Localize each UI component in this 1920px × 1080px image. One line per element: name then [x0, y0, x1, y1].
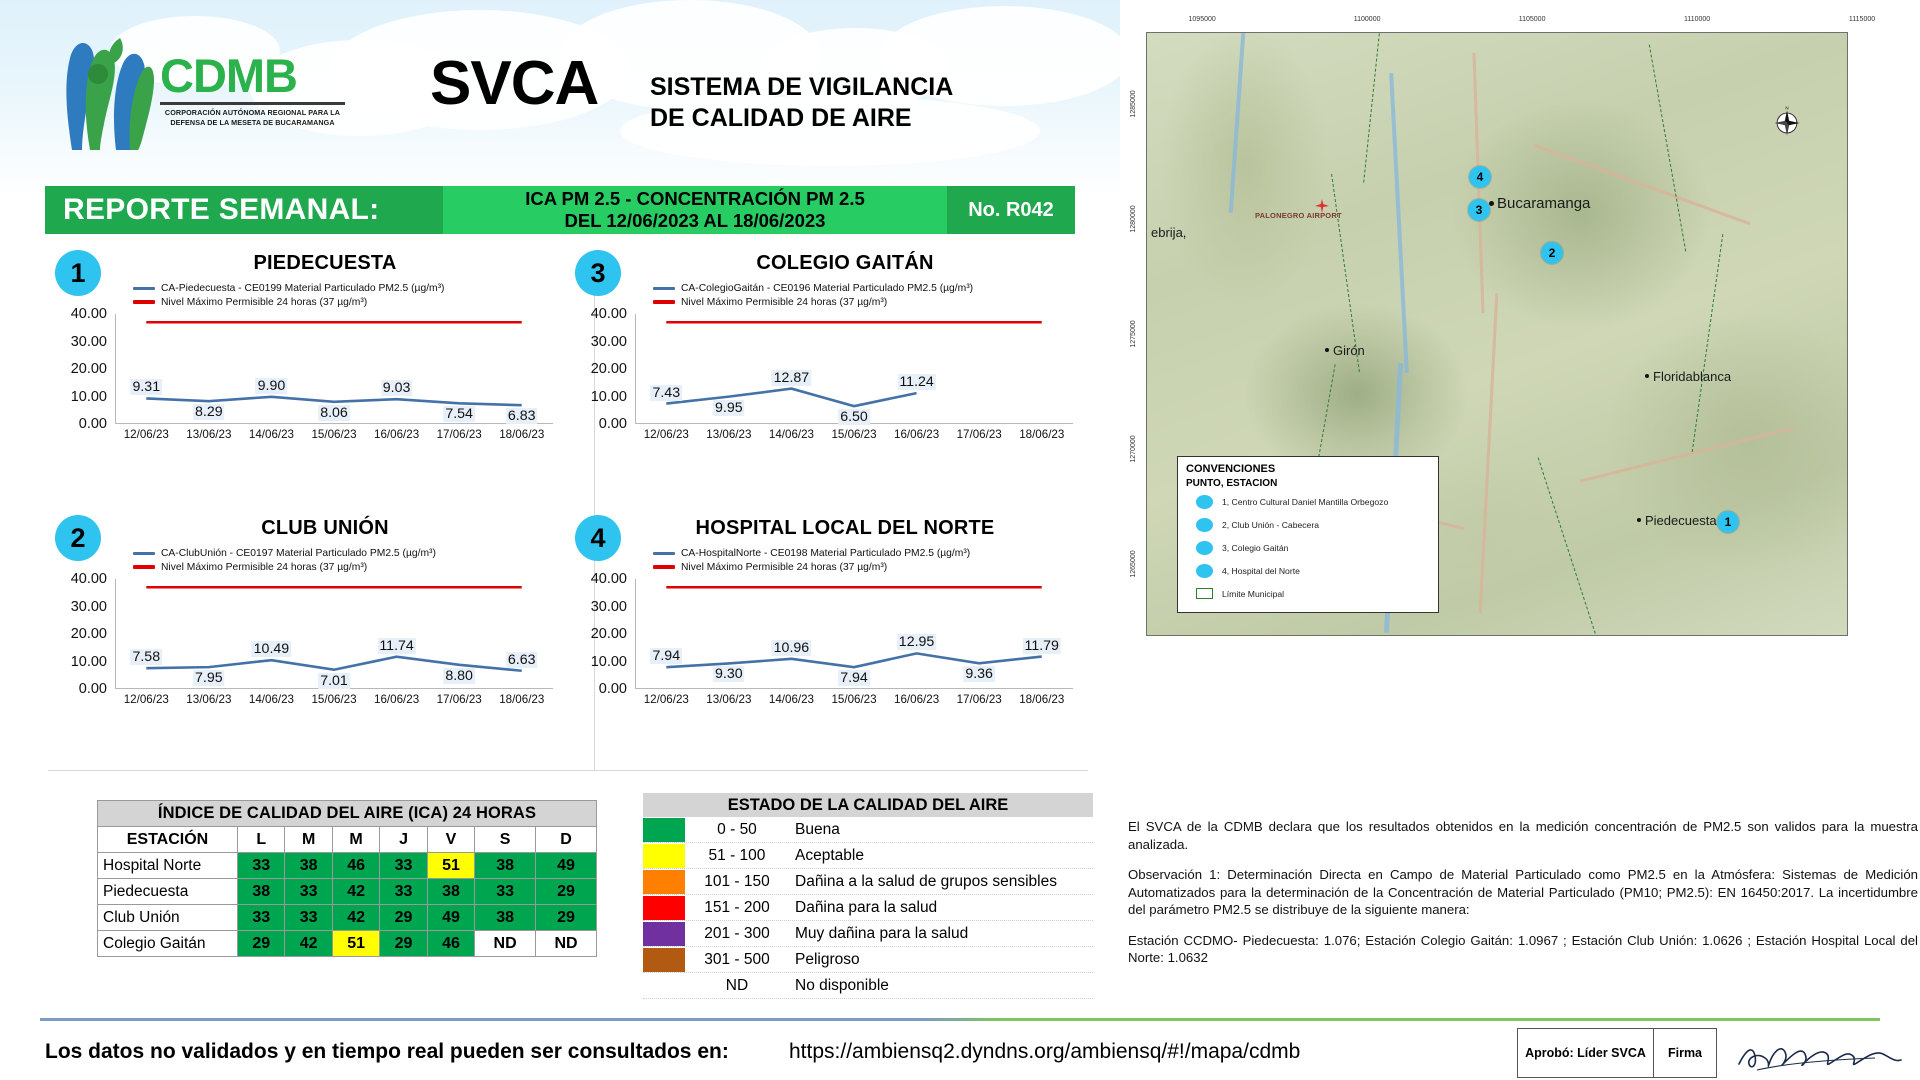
estado-description: No disponible: [785, 977, 889, 995]
ica-value-cell: 33: [285, 879, 332, 905]
footer-url[interactable]: https://ambiensq2.dyndns.org/ambiensq/#!…: [789, 1040, 1300, 1064]
data-label: 12.95: [897, 634, 937, 650]
approved-by-label: Aprobó: Líder SVCA: [1518, 1029, 1654, 1077]
station-dot-icon: [1196, 495, 1213, 509]
map-x-tick: 1105000: [1519, 16, 1546, 23]
report-page: CDMB CORPORACIÓN AUTÓNOMA REGIONAL PARA …: [0, 0, 1920, 1080]
report-label: REPORTE SEMANAL:: [45, 186, 443, 234]
map-x-tick: 1100000: [1354, 16, 1381, 23]
logo-wordmark: CDMB: [160, 52, 360, 100]
x-tick-label: 12/06/23: [115, 428, 178, 446]
ica-col-header: S: [475, 827, 536, 853]
ica-value-cell: 29: [380, 931, 427, 957]
report-title-line1: ICA PM 2.5 - CONCENTRACIÓN PM 2.5: [525, 188, 865, 210]
ica-table-body: Hospital Norte33384633513849Piedecuesta3…: [98, 853, 597, 957]
x-tick-label: 12/06/23: [635, 428, 698, 446]
ica-value-cell: 33: [238, 905, 285, 931]
ica-header-row: ESTACIÓNLMMJVSD: [98, 827, 597, 853]
data-label: 7.54: [443, 406, 475, 422]
legend-line-icon: [653, 287, 675, 290]
ica-table-title: ÍNDICE DE CALIDAD DEL AIRE (ICA) 24 HORA…: [98, 801, 597, 827]
map-x-tick: 1095000: [1189, 16, 1216, 23]
ica-table-row: Piedecuesta38334233383329: [98, 879, 597, 905]
legend-label: Nivel Máximo Permisible 24 horas (37 µg/…: [681, 297, 887, 308]
legend-line-icon: [653, 552, 675, 555]
report-notes: El SVCA de la CDMB declara que los resul…: [1128, 818, 1918, 967]
ica-value-cell: 38: [475, 905, 536, 931]
svca-system-line1: SISTEMA DE VIGILANCIA: [650, 72, 953, 103]
convention-label: 4, Hospital del Norte: [1222, 566, 1300, 576]
chart-title: CLUB UNIÓN: [105, 517, 545, 540]
legend-label: CA-ClubUnión - CE0197 Material Particula…: [161, 548, 436, 559]
legend-entry-threshold: Nivel Máximo Permisible 24 horas (37 µg/…: [133, 560, 436, 574]
x-tick-label: 18/06/23: [1010, 428, 1073, 446]
x-tick-label: 14/06/23: [240, 428, 303, 446]
y-tick-label: 20.00: [71, 361, 107, 377]
x-tick-label: 18/06/23: [490, 693, 553, 711]
ica-value-cell: 51: [332, 931, 379, 957]
x-axis-labels: 12/06/2313/06/2314/06/2315/06/2316/06/23…: [115, 428, 553, 446]
map-conventions-box: CONVENCIONES PUNTO, ESTACION 1, Centro C…: [1177, 456, 1439, 613]
convention-item: 4, Hospital del Norte: [1186, 560, 1430, 581]
data-label: 7.43: [650, 385, 682, 401]
estado-description: Buena: [785, 821, 840, 839]
ica-value-cell: 49: [536, 853, 597, 879]
estado-range: 201 - 300: [689, 925, 785, 943]
city-name: Floridablanca: [1653, 369, 1731, 384]
chart-title: PIEDECUESTA: [105, 252, 545, 275]
chart-svg: [635, 314, 1073, 424]
x-tick-label: 15/06/23: [303, 428, 366, 446]
chart-legend: CA-ClubUnión - CE0197 Material Particula…: [133, 546, 436, 574]
city-label-floridablanca: Floridablanca: [1653, 369, 1731, 384]
data-label: 11.79: [1022, 638, 1060, 654]
plot-area: 7.587.9510.497.0111.748.806.63: [115, 579, 553, 689]
estado-rows: 0 - 50Buena51 - 100Aceptable101 - 150Dañ…: [643, 817, 1093, 999]
ica-col-header: V: [427, 827, 474, 853]
convention-item: 1, Centro Cultural Daniel Mantilla Orbeg…: [1186, 491, 1430, 512]
estado-description: Muy dañina para la salud: [785, 925, 968, 943]
estado-row: 151 - 200Dañina para la salud: [643, 895, 1093, 921]
legend-line-icon: [133, 565, 155, 569]
x-tick-label: 15/06/23: [823, 693, 886, 711]
svg-text:N: N: [1785, 106, 1788, 111]
ica-value-cell: 33: [380, 879, 427, 905]
x-tick-label: 13/06/23: [698, 693, 761, 711]
city-label-piedecuesta: Piedecuesta: [1645, 513, 1717, 528]
compass-rose-icon: N: [1769, 105, 1805, 141]
y-tick-label: 20.00: [591, 626, 627, 642]
y-tick-label: 0.00: [79, 681, 107, 697]
y-tick-label: 40.00: [71, 571, 107, 587]
data-label: 6.83: [506, 408, 538, 424]
convention-item: 3, Colegio Gaitán: [1186, 537, 1430, 558]
data-label: 6.50: [838, 409, 870, 425]
cdmb-logo: CDMB CORPORACIÓN AUTÓNOMA REGIONAL PARA …: [60, 32, 360, 150]
chart-plot: 40.0030.0020.0010.000.007.439.9512.876.5…: [565, 314, 1085, 449]
x-tick-label: 16/06/23: [885, 693, 948, 711]
estado-description: Dañina para la salud: [785, 899, 937, 917]
x-tick-label: 14/06/23: [760, 428, 823, 446]
estado-range: 301 - 500: [689, 951, 785, 969]
map-point-3[interactable]: 3: [1468, 199, 1490, 221]
legend-entry-series: CA-Piedecuesta - CE0199 Material Particu…: [133, 281, 445, 295]
y-tick-label: 30.00: [591, 599, 627, 615]
city-label-lebrija: ebrija,: [1151, 225, 1186, 240]
airport-icon: [1315, 199, 1329, 213]
report-bar: REPORTE SEMANAL: ICA PM 2.5 - CONCENTRAC…: [45, 186, 1075, 234]
data-label: 9.03: [381, 380, 413, 396]
x-tick-label: 15/06/23: [823, 428, 886, 446]
x-tick-label: 17/06/23: [428, 428, 491, 446]
y-tick-label: 0.00: [79, 416, 107, 432]
ica-col-header: M: [332, 827, 379, 853]
city-dot: [1489, 201, 1494, 206]
x-tick-label: 18/06/23: [1010, 693, 1073, 711]
x-tick-label: 15/06/23: [303, 693, 366, 711]
map-y-tick: 1270000: [1130, 435, 1137, 462]
conventions-boundary-row: Límite Municipal: [1186, 583, 1430, 604]
note-observation-1: Observación 1: Determinación Directa en …: [1128, 866, 1918, 919]
y-axis: 40.0030.0020.0010.000.00: [565, 314, 631, 424]
chart-legend: CA-ColegioGaitán - CE0196 Material Parti…: [653, 281, 973, 309]
legend-entry-threshold: Nivel Máximo Permisible 24 horas (37 µg/…: [653, 295, 973, 309]
station-dot-icon: [1196, 541, 1213, 555]
chart-title: COLEGIO GAITÁN: [625, 252, 1065, 275]
city-name: Girón: [1333, 343, 1365, 358]
map-y-tick: 1265000: [1130, 550, 1137, 577]
map-frame: PALONEGRO AIRPORT Bucaramanga Girón Flor…: [1146, 32, 1848, 636]
approval-box: Aprobó: Líder SVCA Firma: [1517, 1028, 1717, 1078]
report-title: ICA PM 2.5 - CONCENTRACIÓN PM 2.5 DEL 12…: [443, 186, 947, 234]
ica-value-cell: 29: [536, 879, 597, 905]
chart-club-union: 2CLUB UNIÓNCA-ClubUnión - CE0197 Materia…: [45, 511, 565, 766]
chart-legend: CA-Piedecuesta - CE0199 Material Particu…: [133, 281, 445, 309]
estado-color-swatch: [643, 844, 685, 868]
map-y-tick: 1275000: [1130, 320, 1137, 347]
estado-color-swatch: [643, 818, 685, 842]
footer-divider: [40, 1018, 1880, 1021]
y-axis: 40.0030.0020.0010.000.00: [45, 314, 111, 424]
logo-subtitle: CORPORACIÓN AUTÓNOMA REGIONAL PARA LA DE…: [160, 108, 345, 128]
signature-image: [1735, 1034, 1905, 1078]
ica-table: ÍNDICE DE CALIDAD DEL AIRE (ICA) 24 HORA…: [97, 800, 597, 957]
report-number: No. R042: [947, 186, 1075, 234]
chart-piedecuesta: 1PIEDECUESTACA-Piedecuesta - CE0199 Mate…: [45, 246, 565, 501]
ica-value-cell: 33: [285, 905, 332, 931]
footer: Los datos no validados y en tiempo real …: [45, 1034, 1880, 1074]
estado-color-swatch: [643, 948, 685, 972]
y-tick-label: 30.00: [71, 334, 107, 350]
estado-row: 201 - 300Muy dañina para la salud: [643, 921, 1093, 947]
estado-range: ND: [689, 977, 785, 995]
ica-value-cell: ND: [536, 931, 597, 957]
ica-value-cell: 33: [238, 853, 285, 879]
estado-range: 0 - 50: [689, 821, 785, 839]
svca-system-name: SISTEMA DE VIGILANCIA DE CALIDAD DE AIRE: [650, 72, 953, 134]
x-tick-label: 14/06/23: [760, 693, 823, 711]
legend-entry-series: CA-ClubUnión - CE0197 Material Particula…: [133, 546, 436, 560]
city-dot: [1645, 374, 1649, 378]
x-axis-labels: 12/06/2313/06/2314/06/2315/06/2316/06/23…: [635, 693, 1073, 711]
map-x-axis: 10950001100000110500011100001115000: [1146, 16, 1848, 32]
estado-range: 51 - 100: [689, 847, 785, 865]
data-label: 9.31: [130, 379, 162, 395]
signature-label: Firma: [1654, 1029, 1716, 1077]
estado-range: 101 - 150: [689, 873, 785, 891]
estado-row: 301 - 500Peligroso: [643, 947, 1093, 973]
data-label: 9.30: [713, 666, 745, 682]
estado-row: NDNo disponible: [643, 973, 1093, 999]
chart-title: HOSPITAL LOCAL DEL NORTE: [625, 517, 1065, 540]
estado-range: 151 - 200: [689, 899, 785, 917]
boundary-swatch-icon: [1196, 588, 1213, 599]
x-tick-label: 16/06/23: [885, 428, 948, 446]
conventions-subtitle: PUNTO, ESTACION: [1186, 478, 1430, 489]
legend-label: Nivel Máximo Permisible 24 horas (37 µg/…: [161, 562, 367, 573]
data-label: 8.80: [443, 668, 475, 684]
legend-entry-series: CA-ColegioGaitán - CE0196 Material Parti…: [653, 281, 973, 295]
ica-value-cell: 51: [427, 853, 474, 879]
chart-plot: 40.0030.0020.0010.000.007.949.3010.967.9…: [565, 579, 1085, 714]
data-label: 8.06: [318, 405, 350, 421]
y-tick-label: 30.00: [71, 599, 107, 615]
note-uncertainty: Estación CCDMO- Piedecuesta: 1.076; Esta…: [1128, 932, 1918, 967]
chart-legend: CA-HospitalNorte - CE0198 Material Parti…: [653, 546, 970, 574]
x-tick-label: 14/06/23: [240, 693, 303, 711]
svca-acronym: SVCA: [430, 48, 598, 119]
x-tick-label: 13/06/23: [178, 693, 241, 711]
station-dot-icon: [1196, 518, 1213, 532]
ica-value-cell: 49: [427, 905, 474, 931]
convention-item: 2, Club Unión - Cabecera: [1186, 514, 1430, 535]
plot-area: 9.318.299.908.069.037.546.83: [115, 314, 553, 424]
logo-divider: [160, 102, 345, 105]
estado-row: 101 - 150Dañina a la salud de grupos sen…: [643, 869, 1093, 895]
data-label: 9.36: [963, 666, 995, 682]
chart-badge: 1: [55, 250, 101, 296]
data-label: 11.74: [377, 638, 415, 654]
y-tick-label: 0.00: [599, 416, 627, 432]
city-dot: [1637, 518, 1641, 522]
ica-value-cell: 29: [536, 905, 597, 931]
conventions-title: CONVENCIONES: [1186, 463, 1430, 475]
conventions-items: 1, Centro Cultural Daniel Mantilla Orbeg…: [1186, 491, 1430, 581]
data-label: 11.24: [897, 374, 935, 390]
x-tick-label: 12/06/23: [115, 693, 178, 711]
air-quality-status-legend: ESTADO DE LA CALIDAD DEL AIRE 0 - 50Buen…: [643, 793, 1093, 999]
report-title-line2: DEL 12/06/2023 AL 18/06/2023: [565, 210, 826, 232]
estado-color-swatch: [643, 870, 685, 894]
data-label: 8.29: [193, 404, 225, 420]
legend-entry-threshold: Nivel Máximo Permisible 24 horas (37 µg/…: [133, 295, 445, 309]
legend-entry-series: CA-HospitalNorte - CE0198 Material Parti…: [653, 546, 970, 560]
data-label: 12.87: [772, 370, 812, 386]
map-x-tick: 1115000: [1849, 16, 1875, 23]
x-axis-labels: 12/06/2313/06/2314/06/2315/06/2316/06/23…: [115, 693, 553, 711]
charts-horizontal-divider: [48, 770, 1088, 771]
data-label: 9.90: [256, 378, 288, 394]
legend-line-icon: [133, 287, 155, 290]
city-name: Bucaramanga: [1497, 195, 1590, 212]
ica-table-row: Hospital Norte33384633513849: [98, 853, 597, 879]
ica-value-cell: 42: [332, 879, 379, 905]
chart-badge: 3: [575, 250, 621, 296]
estado-title: ESTADO DE LA CALIDAD DEL AIRE: [643, 793, 1093, 817]
estado-row: 0 - 50Buena: [643, 817, 1093, 843]
city-name: ebrija,: [1151, 225, 1186, 240]
chart-badge: 4: [575, 515, 621, 561]
legend-line-icon: [133, 300, 155, 304]
data-label: 10.96: [772, 640, 812, 656]
estado-description: Peligroso: [785, 951, 860, 969]
x-tick-label: 18/06/23: [490, 428, 553, 446]
city-name: Piedecuesta: [1645, 513, 1717, 528]
data-label: 10.49: [252, 641, 292, 657]
ica-value-cell: 38: [238, 879, 285, 905]
x-tick-label: 12/06/23: [635, 693, 698, 711]
map-point-2[interactable]: 2: [1541, 242, 1563, 264]
estado-description: Aceptable: [785, 847, 864, 865]
legend-label: CA-ColegioGaitán - CE0196 Material Parti…: [681, 283, 973, 294]
map-point-1[interactable]: 1: [1717, 511, 1739, 533]
y-tick-label: 10.00: [591, 389, 627, 405]
ica-station-name: Hospital Norte: [98, 853, 238, 879]
ica-value-cell: 29: [380, 905, 427, 931]
y-tick-label: 10.00: [71, 389, 107, 405]
chart-plot: 40.0030.0020.0010.000.007.587.9510.497.0…: [45, 579, 565, 714]
ica-value-cell: 42: [285, 931, 332, 957]
estado-row: 51 - 100Aceptable: [643, 843, 1093, 869]
svca-system-line2: DE CALIDAD DE AIRE: [650, 103, 953, 134]
data-label: 7.95: [193, 670, 225, 686]
estado-description: Dañina a la salud de grupos sensibles: [785, 873, 1057, 891]
map-x-tick: 1110000: [1684, 16, 1710, 23]
boundary-label: Límite Municipal: [1222, 589, 1284, 599]
plot-area: 7.439.9512.876.5011.24: [635, 314, 1073, 424]
ica-value-cell: 42: [332, 905, 379, 931]
chart-badge: 2: [55, 515, 101, 561]
x-axis-labels: 12/06/2313/06/2314/06/2315/06/2316/06/23…: [635, 428, 1073, 446]
data-label: 7.01: [318, 673, 350, 689]
map-y-tick: 1280000: [1130, 206, 1137, 233]
station-dot-icon: [1196, 564, 1213, 578]
ica-table-row: Club Unión33334229493829: [98, 905, 597, 931]
ica-value-cell: ND: [475, 931, 536, 957]
ica-station-name: Piedecuesta: [98, 879, 238, 905]
legend-line-icon: [133, 552, 155, 555]
data-label: 6.63: [506, 652, 538, 668]
series-line: [666, 389, 916, 407]
x-tick-label: 16/06/23: [365, 693, 428, 711]
ica-station-name: Colegio Gaitán: [98, 931, 238, 957]
legend-line-icon: [653, 565, 675, 569]
estado-color-swatch: [643, 896, 685, 920]
x-tick-label: 13/06/23: [178, 428, 241, 446]
series-line: [666, 653, 1041, 667]
y-tick-label: 20.00: [71, 626, 107, 642]
y-tick-label: 40.00: [591, 306, 627, 322]
estado-color-swatch: [643, 974, 685, 998]
y-tick-label: 10.00: [591, 654, 627, 670]
x-tick-label: 16/06/23: [365, 428, 428, 446]
ica-value-cell: 33: [380, 853, 427, 879]
convention-label: 1, Centro Cultural Daniel Mantilla Orbeg…: [1222, 497, 1388, 507]
x-tick-label: 13/06/23: [698, 428, 761, 446]
city-label-bucaramanga: Bucaramanga: [1497, 195, 1590, 212]
ica-table-row: Colegio Gaitán2942512946NDND: [98, 931, 597, 957]
data-label: 9.95: [713, 400, 745, 416]
x-tick-label: 17/06/23: [948, 428, 1011, 446]
convention-label: 2, Club Unión - Cabecera: [1222, 520, 1319, 530]
y-tick-label: 40.00: [71, 306, 107, 322]
y-axis: 40.0030.0020.0010.000.00: [45, 579, 111, 689]
data-label: 7.58: [130, 649, 162, 665]
city-dot: [1325, 348, 1329, 352]
ica-col-header: J: [380, 827, 427, 853]
x-tick-label: 17/06/23: [948, 693, 1011, 711]
note-validity: El SVCA de la CDMB declara que los resul…: [1128, 818, 1918, 853]
legend-label: Nivel Máximo Permisible 24 horas (37 µg/…: [681, 562, 887, 573]
ica-value-cell: 38: [475, 853, 536, 879]
y-tick-label: 20.00: [591, 361, 627, 377]
y-axis: 40.0030.0020.0010.000.00: [565, 579, 631, 689]
legend-label: Nivel Máximo Permisible 24 horas (37 µg/…: [161, 297, 367, 308]
footer-text: Los datos no validados y en tiempo real …: [45, 1040, 729, 1064]
data-label: 7.94: [650, 648, 682, 664]
ica-value-cell: 38: [285, 853, 332, 879]
ica-value-cell: 29: [238, 931, 285, 957]
chart-plot: 40.0030.0020.0010.000.009.318.299.908.06…: [45, 314, 565, 449]
map-point-4[interactable]: 4: [1469, 166, 1491, 188]
map-y-axis: 12850001280000127500012700001265000: [1130, 32, 1146, 636]
chart-colegio-gaitan: 3COLEGIO GAITÁNCA-ColegioGaitán - CE0196…: [565, 246, 1085, 501]
ica-value-cell: 33: [475, 879, 536, 905]
x-tick-label: 17/06/23: [428, 693, 491, 711]
convention-label: 3, Colegio Gaitán: [1222, 543, 1288, 553]
legend-label: CA-HospitalNorte - CE0198 Material Parti…: [681, 548, 970, 559]
charts-grid: 1PIEDECUESTACA-Piedecuesta - CE0199 Mate…: [45, 246, 1085, 766]
ica-value-cell: 46: [427, 931, 474, 957]
y-tick-label: 30.00: [591, 334, 627, 350]
data-label: 7.94: [838, 670, 870, 686]
ica-col-header: ESTACIÓN: [98, 827, 238, 853]
ica-col-header: M: [285, 827, 332, 853]
ica-value-cell: 46: [332, 853, 379, 879]
city-label-giron: Girón: [1333, 343, 1365, 358]
legend-line-icon: [653, 300, 675, 304]
map-y-tick: 1285000: [1130, 91, 1137, 118]
ica-station-name: Club Unión: [98, 905, 238, 931]
y-tick-label: 40.00: [591, 571, 627, 587]
y-tick-label: 10.00: [71, 654, 107, 670]
ica-col-header: D: [536, 827, 597, 853]
cdmb-logo-mark: [60, 32, 155, 150]
legend-label: CA-Piedecuesta - CE0199 Material Particu…: [161, 283, 445, 294]
plot-area: 7.949.3010.967.9412.959.3611.79: [635, 579, 1073, 689]
ica-value-cell: 38: [427, 879, 474, 905]
estado-color-swatch: [643, 922, 685, 946]
station-map: 10950001100000110500011100001115000 1285…: [1128, 14, 1908, 654]
legend-entry-threshold: Nivel Máximo Permisible 24 horas (37 µg/…: [653, 560, 970, 574]
y-tick-label: 0.00: [599, 681, 627, 697]
chart-hospital-norte: 4HOSPITAL LOCAL DEL NORTECA-HospitalNort…: [565, 511, 1085, 766]
ica-col-header: L: [238, 827, 285, 853]
